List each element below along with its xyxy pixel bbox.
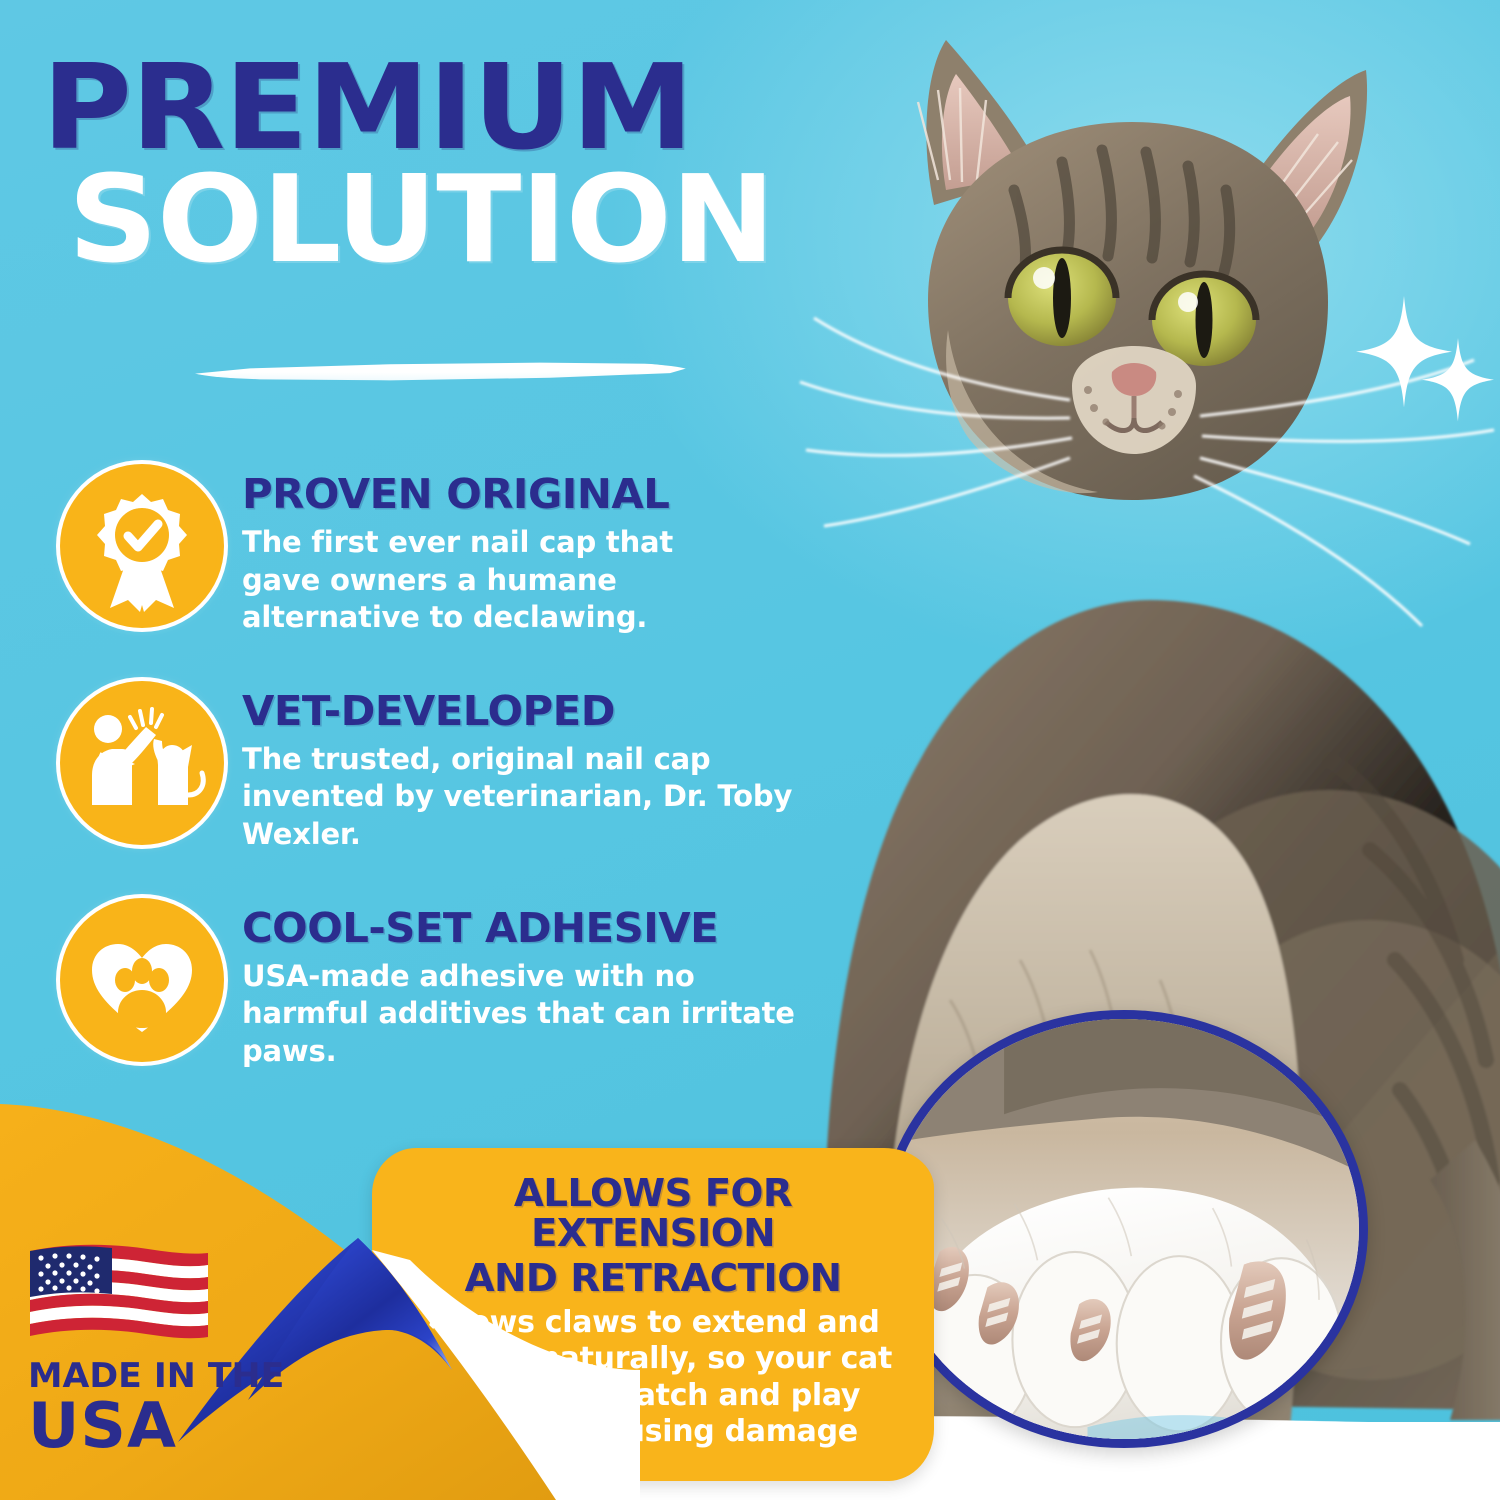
feature-description: USA-made adhesive with no harmful additi… [242,958,817,1071]
feature-item: PROVEN ORIGINAL The first ever nail cap … [58,462,858,637]
feature-description: The trusted, original nail cap invented … [242,741,847,854]
headline-block: PREMIUM SOLUTION [42,52,747,278]
usa-badge-line-1: MADE IN THE [28,1359,293,1393]
headline-line-2: SOLUTION [68,163,774,278]
feature-item: VET-DEVELOPED The trusted, original nail… [58,679,858,854]
product-marketing-poster: PREMIUM SOLUTION PROVEN ORIGINAL [0,0,1500,1500]
headline-line-1: PREMIUM [42,52,775,163]
usa-badge-line-2: USA [28,1393,293,1458]
feature-list: PROVEN ORIGINAL The first ever nail cap … [58,462,858,1113]
award-ribbon-check-icon [58,462,226,630]
usa-flag-icon [28,1237,210,1345]
feature-title: VET-DEVELOPED [242,691,859,733]
cat-paw-closeup-inset [880,1010,1368,1448]
feature-item: COOL-SET ADHESIVE USA-made adhesive with… [58,896,858,1071]
underline-swoosh-shape [190,358,690,384]
feature-title: PROVEN ORIGINAL [242,474,752,516]
feature-description: The first ever nail cap that gave owners… [242,524,742,637]
vet-high-five-cat-icon [58,679,226,847]
made-in-usa-badge: MADE IN THE USA [28,1237,288,1458]
feature-title: COOL-SET ADHESIVE [242,908,829,950]
sparkle-star-icon [1422,338,1494,422]
heart-paw-icon [58,896,226,1064]
